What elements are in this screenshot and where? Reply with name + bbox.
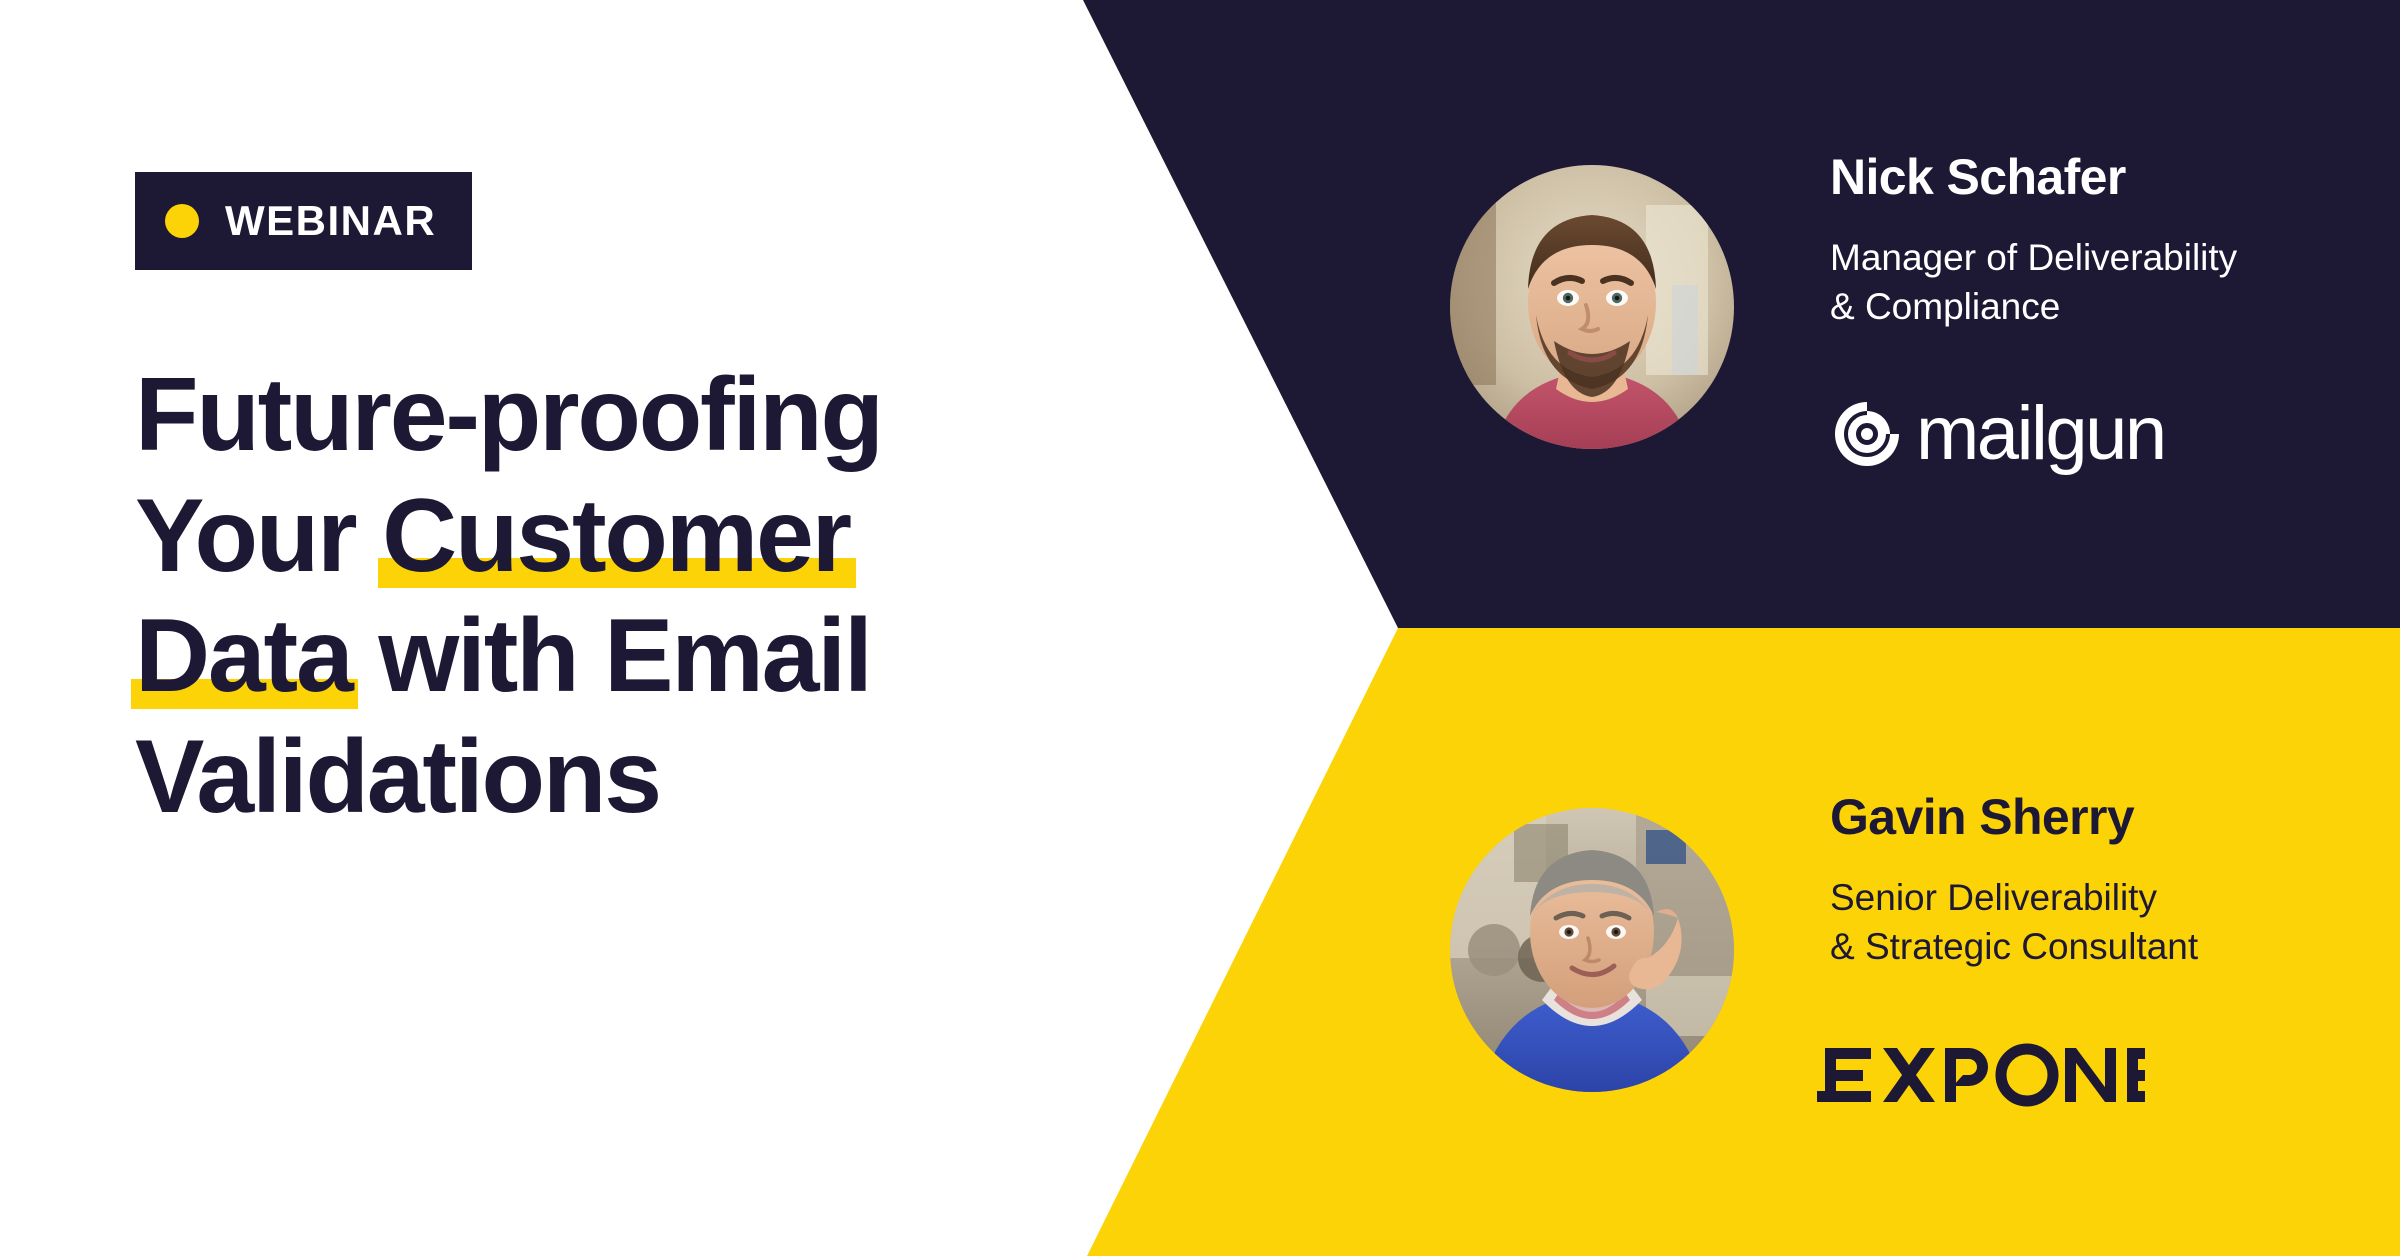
mailgun-wordmark: mailgun: [1916, 396, 2165, 472]
avatar: [1450, 808, 1734, 1092]
gavin-sherry-avatar: [1450, 808, 1734, 1092]
webinar-badge: WEBINAR: [135, 172, 472, 270]
speaker-info: Gavin Sherry Senior Deliverability & Str…: [1830, 790, 2390, 971]
webinar-badge-label: WEBINAR: [225, 200, 436, 242]
headline-line-1: Future-proofing: [135, 355, 1035, 476]
headline-line-3: Data with Email: [135, 596, 1035, 717]
page-title: Future-proofing Your Customer Data with …: [135, 355, 1035, 838]
speaker-name: Gavin Sherry: [1830, 790, 2390, 845]
avatar: [1450, 165, 1734, 449]
headline-line-2: Your Customer: [135, 476, 1035, 597]
mailgun-logo: mailgun: [1830, 396, 2165, 472]
webinar-promo-banner: WEBINAR Future-proofing Your Customer Da…: [0, 0, 2400, 1256]
speaker-name: Nick Schafer: [1830, 150, 2390, 205]
headline-line-4: Validations: [135, 717, 1035, 838]
left-content-column: WEBINAR Future-proofing Your Customer Da…: [135, 0, 1035, 1256]
speaker-role: Senior Deliverability & Strategic Consul…: [1830, 873, 2390, 971]
headline-highlight-customer: Customer: [382, 476, 850, 597]
speaker-role-line-2: & Strategic Consultant: [1830, 922, 2390, 971]
speaker-role-line-1: Senior Deliverability: [1830, 873, 2390, 922]
headline-line-3-suffix: with Email: [352, 598, 871, 714]
speaker-role-line-2: & Compliance: [1830, 282, 2390, 331]
speaker-role: Manager of Deliverability & Compliance: [1830, 233, 2390, 331]
headline-highlight-data: Data: [135, 596, 352, 717]
mailgun-at-mark-icon: [1830, 397, 1904, 471]
exponea-wordmark-icon: [1815, 1040, 2145, 1110]
exponea-logo: [1815, 1040, 2145, 1115]
speaker-role-line-1: Manager of Deliverability: [1830, 233, 2390, 282]
nick-schafer-avatar: [1450, 165, 1734, 449]
yellow-dot-icon: [165, 204, 199, 238]
speaker-info: Nick Schafer Manager of Deliverability &…: [1830, 150, 2390, 331]
headline-line-2-prefix: Your: [135, 478, 382, 594]
